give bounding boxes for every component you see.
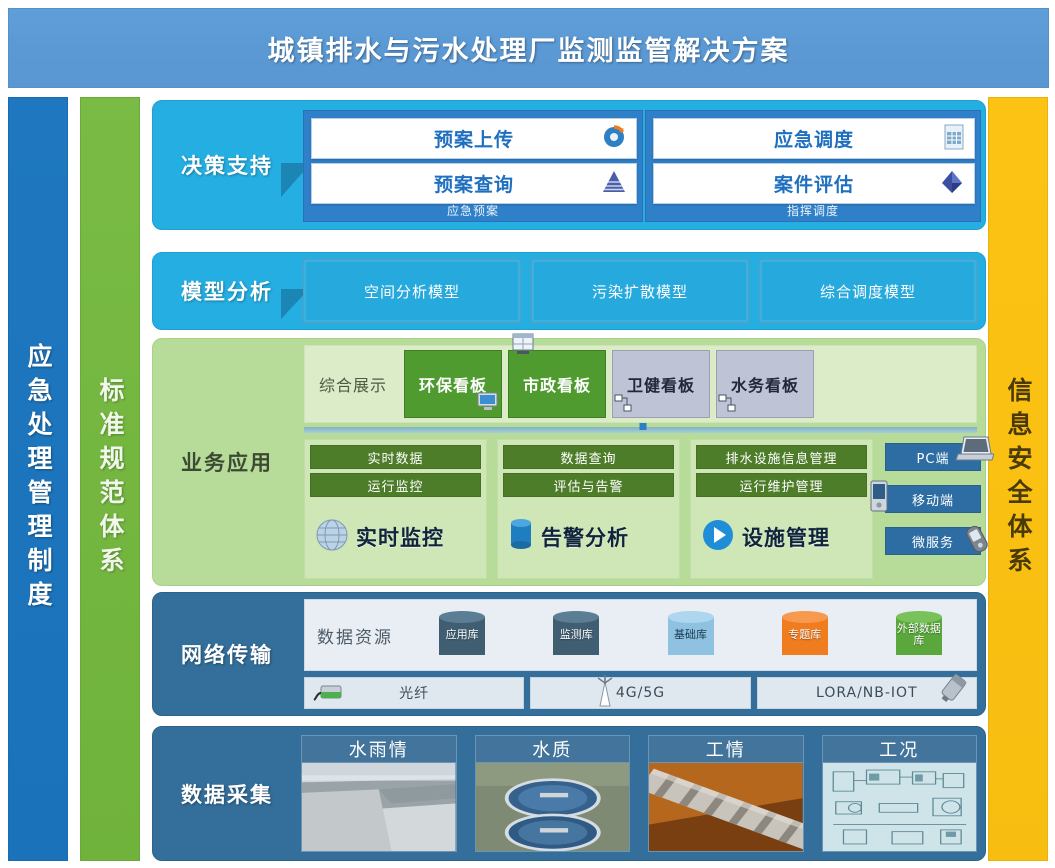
data-collection-label: 数据采集 [153, 727, 301, 860]
dashboard-group-label: 综合展示 [305, 346, 401, 422]
dashboard-tile-health-label: 卫健看板 [627, 372, 695, 396]
business-column-facility: 排水设施信息管理 运行维护管理 设施管理 [690, 439, 873, 579]
data-tile-water-quality-label: 水质 [476, 736, 630, 763]
flow-icon [614, 394, 632, 416]
model-box-pollution[interactable]: 污染扩散模型 [531, 259, 749, 323]
business-column-monitoring: 实时数据 运行监控 实时监控 [304, 439, 487, 579]
data-tile-rainfall[interactable]: 水雨情 [301, 735, 457, 852]
database-monitoring[interactable]: 监测库 [519, 600, 633, 670]
model-box-list: 空间分析模型 污染扩散模型 综合调度模型 [303, 259, 977, 323]
antenna-icon [592, 672, 618, 712]
plan-upload-button[interactable]: 预案上传 [311, 118, 637, 159]
data-tile-rainfall-label: 水雨情 [302, 736, 456, 763]
database-basic-label: 基础库 [668, 611, 714, 659]
client-button-list: PC端 移动端 [885, 443, 981, 555]
network-link-lora-label: LORA/NB-IOT [816, 685, 918, 701]
dashboard-tile-municipal-label: 市政看板 [523, 372, 591, 396]
data-tile-project-status-label: 工情 [649, 736, 803, 763]
database-application-label: 应用库 [439, 611, 485, 659]
decision-support-row: 决策支持 预案上传 预案查询 [152, 100, 986, 230]
business-main-facility[interactable]: 设施管理 [696, 501, 867, 573]
page-title: 城镇排水与污水处理厂监测监管解决方案 [268, 29, 790, 68]
clarifier-photo [476, 763, 630, 851]
cylinder-icon: 监测库 [553, 611, 599, 659]
data-collection-row: 数据采集 水雨情 水质 [152, 726, 986, 861]
data-tile-working-condition[interactable]: 工况 [822, 735, 978, 852]
chip-assessment-alarm[interactable]: 评估与告警 [503, 473, 674, 497]
business-application-row: 业务应用 综合展示 环保看板 市政看板 [152, 338, 986, 586]
database-external[interactable]: 外部数据库 [862, 600, 976, 670]
emergency-plan-caption: 应急预案 [304, 202, 642, 219]
dashboard-tile-water[interactable]: 水务看板 [716, 350, 814, 418]
page-header: 城镇排水与污水处理厂监测监管解决方案 [8, 8, 1049, 88]
fiber-icon [313, 681, 347, 709]
database-icon [507, 517, 535, 557]
client-pc-label: PC端 [917, 448, 950, 467]
data-resource-panel: 数据资源 应用库 监测库 [304, 599, 977, 671]
laptop-icon [954, 434, 994, 468]
model-box-dispatch[interactable]: 综合调度模型 [759, 259, 977, 323]
model-analysis-label: 模型分析 [153, 253, 301, 329]
cylinder-icon: 外部数据库 [896, 611, 942, 659]
database-external-label: 外部数据库 [896, 611, 942, 659]
network-transmission-row: 网络传输 数据资源 应用库 监测库 [152, 592, 986, 716]
dashboard-tile-environment[interactable]: 环保看板 [404, 350, 502, 418]
cylinder-icon: 应用库 [439, 611, 485, 659]
canal-photo [302, 763, 456, 851]
network-link-cellular-label: 4G/5G [616, 685, 665, 701]
business-column-list: 实时数据 运行监控 实时监控 [304, 439, 873, 579]
play-icon [700, 517, 736, 557]
business-main-facility-label: 设施管理 [742, 522, 830, 552]
cylinder-icon: 基础库 [668, 611, 714, 659]
plan-query-button[interactable]: 预案查询 [311, 163, 637, 204]
network-link-cellular[interactable]: 4G/5G [530, 677, 750, 709]
flow-icon [718, 394, 736, 416]
plan-upload-label: 预案上传 [434, 125, 514, 152]
sensor-icon [934, 672, 974, 710]
chip-operation-maintenance[interactable]: 运行维护管理 [696, 473, 867, 497]
cylinder-icon: 专题库 [782, 611, 828, 659]
client-microservice-label: 微服务 [912, 532, 954, 551]
pillar-information-security: 信息安全体系 [988, 97, 1048, 861]
monitor-icon [477, 392, 499, 416]
emergency-dispatch-label: 应急调度 [774, 125, 854, 152]
database-basic[interactable]: 基础库 [633, 600, 747, 670]
business-main-monitoring-label: 实时监控 [356, 522, 444, 552]
database-monitoring-label: 监测库 [553, 611, 599, 659]
database-application[interactable]: 应用库 [405, 600, 519, 670]
data-resource-label: 数据资源 [305, 623, 405, 648]
emergency-plan-group: 预案上传 预案查询 [303, 110, 643, 222]
emergency-dispatch-button[interactable]: 应急调度 [653, 118, 975, 159]
diamond-icon [939, 169, 965, 199]
business-application-label: 业务应用 [153, 339, 301, 585]
pillar-emergency-management: 应急处理管理制度 [8, 97, 68, 861]
business-column-alarm: 数据查询 评估与告警 告警分析 [497, 439, 680, 579]
dashboard-tile-water-label: 水务看板 [731, 372, 799, 396]
network-link-fiber[interactable]: 光纤 [304, 677, 524, 709]
dashboard-tile-municipal[interactable]: 市政看板 [508, 350, 606, 418]
network-link-lora[interactable]: LORA/NB-IOT [757, 677, 977, 709]
case-assessment-button[interactable]: 案件评估 [653, 163, 975, 204]
data-tile-working-condition-label: 工况 [823, 736, 977, 763]
database-thematic[interactable]: 专题库 [748, 600, 862, 670]
plan-query-label: 预案查询 [434, 170, 514, 197]
client-mobile-button[interactable]: 移动端 [885, 485, 981, 513]
mobile-icon [868, 480, 890, 518]
decision-support-label: 决策支持 [153, 101, 301, 229]
chip-data-query[interactable]: 数据查询 [503, 445, 674, 469]
dashboard-separator-dot [640, 423, 647, 430]
window-icon [511, 333, 535, 359]
client-mobile-label: 移动端 [912, 490, 954, 509]
scada-photo [823, 763, 977, 851]
command-dispatch-caption: 指挥调度 [646, 202, 980, 219]
globe-icon [314, 517, 350, 557]
pillar-standard-system: 标准规范体系 [80, 97, 140, 861]
chip-operation-monitoring[interactable]: 运行监控 [310, 473, 481, 497]
data-collection-tile-list: 水雨情 水质 [301, 735, 977, 852]
model-box-spatial[interactable]: 空间分析模型 [303, 259, 521, 323]
business-main-alarm[interactable]: 告警分析 [503, 501, 674, 573]
dashboard-tile-health[interactable]: 卫健看板 [612, 350, 710, 418]
chip-realtime-data[interactable]: 实时数据 [310, 445, 481, 469]
network-link-fiber-label: 光纤 [399, 683, 429, 703]
network-link-list: 光纤 4G/5G LORA/NB-IOT [304, 677, 977, 709]
data-tile-water-quality[interactable]: 水质 [475, 735, 631, 852]
data-tile-project-status[interactable]: 工情 [648, 735, 804, 852]
network-transmission-label: 网络传输 [153, 593, 301, 715]
business-main-alarm-label: 告警分析 [541, 522, 629, 552]
dashboard-panel: 综合展示 环保看板 市政看板 [304, 345, 977, 423]
chip-drainage-facility-info[interactable]: 排水设施信息管理 [696, 445, 867, 469]
command-dispatch-group: 应急调度 案件评估 [645, 110, 981, 222]
pyramid-icon [601, 170, 627, 198]
pipe-photo [649, 763, 803, 851]
database-thematic-label: 专题库 [782, 611, 828, 659]
business-main-monitoring[interactable]: 实时监控 [310, 501, 481, 573]
case-assessment-label: 案件评估 [774, 170, 854, 197]
grid-table-icon [943, 124, 965, 154]
client-microservice-button[interactable]: 微服务 [885, 527, 981, 555]
client-pc-button[interactable]: PC端 [885, 443, 981, 471]
refresh-globe-icon [601, 124, 627, 154]
phone-icon [960, 524, 994, 558]
model-analysis-row: 模型分析 空间分析模型 污染扩散模型 综合调度模型 [152, 252, 986, 330]
